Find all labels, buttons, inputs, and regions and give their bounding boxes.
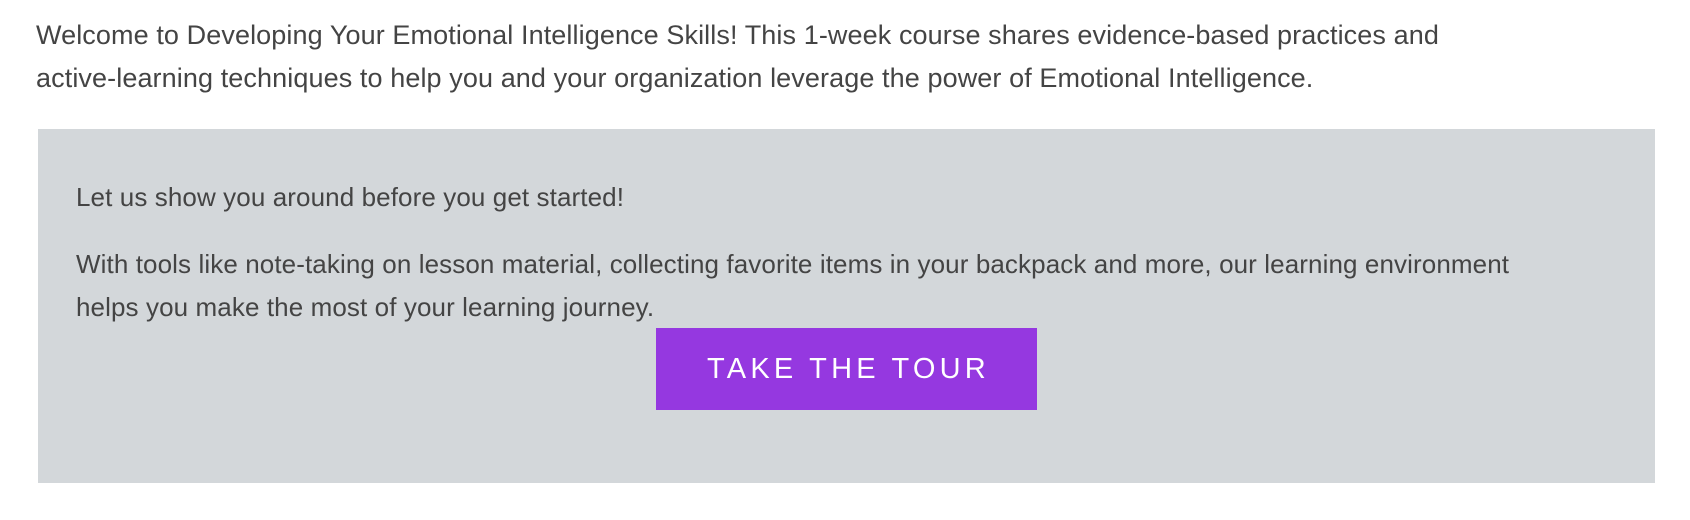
tour-callout-box: Let us show you around before you get st… xyxy=(38,129,1655,483)
cta-row: TAKE THE TOUR xyxy=(38,328,1655,410)
course-intro-paragraph: Welcome to Developing Your Emotional Int… xyxy=(36,14,1466,100)
callout-body-text: With tools like note-taking on lesson ma… xyxy=(76,217,1542,329)
callout-lead-text: Let us show you around before you get st… xyxy=(76,167,1615,217)
take-the-tour-button[interactable]: TAKE THE TOUR xyxy=(656,328,1037,410)
onboarding-welcome-panel: Welcome to Developing Your Emotional Int… xyxy=(0,0,1690,520)
